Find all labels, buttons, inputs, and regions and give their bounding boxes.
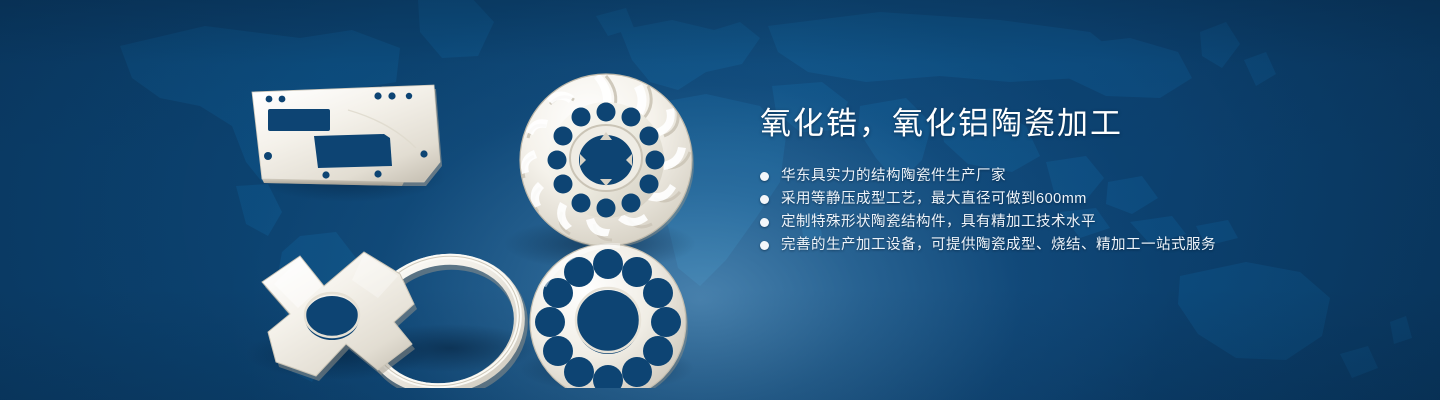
ceramic-impeller-disc — [520, 74, 694, 248]
feature-list-item: 华东具实力的结构陶瓷件生产厂家 — [760, 165, 1380, 187]
bullet-dot-icon — [760, 195, 769, 204]
banner-text-column: 氧化锆，氧化铝陶瓷加工 华东具实力的结构陶瓷件生产厂家 采用等静压成型工艺，最大… — [760, 104, 1380, 257]
feature-text: 采用等静压成型工艺，最大直径可做到600mm — [781, 188, 1087, 210]
banner-headline: 氧化锆，氧化铝陶瓷加工 — [760, 104, 1380, 144]
ceramic-machined-plate — [252, 85, 442, 186]
ceramic-products-image — [228, 36, 720, 388]
feature-list-item: 完善的生产加工设备，可提供陶瓷成型、烧结、精加工一站式服务 — [760, 234, 1380, 256]
bullet-dot-icon — [760, 241, 769, 250]
bullet-dot-icon — [760, 218, 769, 227]
feature-list-item: 采用等静压成型工艺，最大直径可做到600mm — [760, 188, 1380, 210]
feature-list: 华东具实力的结构陶瓷件生产厂家 采用等静压成型工艺，最大直径可做到600mm 定… — [760, 165, 1380, 256]
feature-text: 定制特殊形状陶瓷结构件，具有精加工技术水平 — [781, 211, 1096, 233]
promo-banner: 氧化锆，氧化铝陶瓷加工 华东具实力的结构陶瓷件生产厂家 采用等静压成型工艺，最大… — [0, 0, 1440, 400]
feature-text: 完善的生产加工设备，可提供陶瓷成型、烧结、精加工一站式服务 — [781, 234, 1216, 256]
ceramic-perforated-disc — [530, 244, 688, 388]
bullet-dot-icon — [760, 172, 769, 181]
feature-list-item: 定制特殊形状陶瓷结构件，具有精加工技术水平 — [760, 211, 1380, 233]
feature-text: 华东具实力的结构陶瓷件生产厂家 — [781, 165, 1006, 187]
